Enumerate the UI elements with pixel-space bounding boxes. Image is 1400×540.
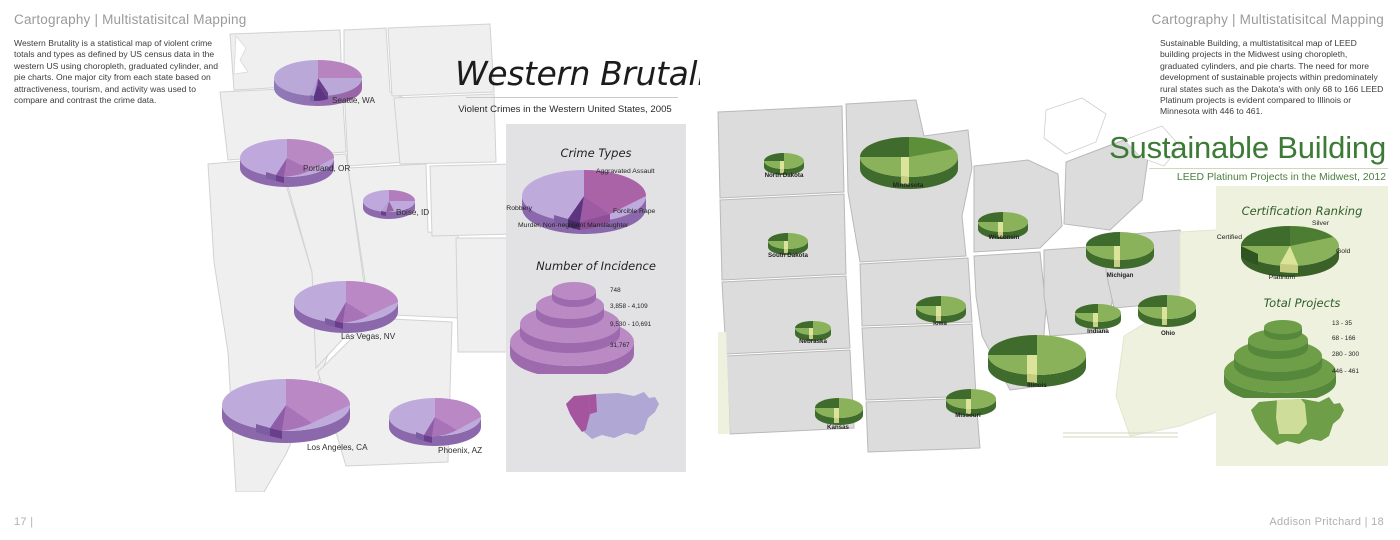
pie-label-murder: Murder, Non-negligent Manslaughter: [518, 222, 626, 230]
state-label-iowa: Iowa: [912, 320, 968, 327]
certification-ranking-title: Certification Ranking: [1216, 204, 1388, 218]
city-label-los-angeles: Los Angeles, CA: [307, 443, 368, 452]
page-subtitle-sustainable: LEED Platinum Projects in the Midwest, 2…: [1082, 172, 1386, 183]
state-label-south-dakota: South Dakota: [756, 252, 820, 259]
city-label-phoenix: Phoenix, AZ: [438, 446, 482, 455]
total-projects-title: Total Projects: [1216, 296, 1388, 310]
pie-las-vegas: [290, 278, 402, 334]
page-title-sustainable: Sustainable Building: [1082, 130, 1386, 166]
city-label-boise: Boise, ID: [396, 208, 429, 217]
total-projects-value-1: 13 - 35: [1332, 320, 1352, 327]
pie-michigan: [1083, 228, 1157, 270]
pie-ohio: [1135, 292, 1199, 328]
state-label-michigan: Michigan: [1088, 272, 1152, 279]
state-label-minnesota: Minnesota: [876, 182, 940, 189]
state-label-north-dakota: North Dakota: [752, 172, 816, 179]
title-rule-left: [466, 97, 678, 98]
pie-label-platinum: Platinum: [1246, 274, 1318, 282]
state-label-wisconsin: Wisconsin: [972, 234, 1036, 241]
pie-minnesota: [857, 133, 961, 189]
page-title-western: Western Brutality: [455, 54, 687, 93]
city-label-portland: Portland, OR: [303, 164, 350, 173]
city-label-seattle: Seattle, WA: [332, 96, 375, 105]
state-label-kansas: Kansas: [810, 424, 866, 431]
pie-label-aggravated-assault: Aggravated Assault: [596, 168, 656, 176]
pie-label-forcible-rape: Forcible Rape: [613, 208, 655, 216]
incidence-value-4: 31,767: [610, 342, 630, 349]
pie-illinois: [985, 330, 1089, 388]
footer-right: Addison Pritchard | 18: [1269, 516, 1384, 528]
pie-label-silver: Silver: [1312, 220, 1329, 228]
certification-pie-chart: [1238, 222, 1342, 278]
total-projects-value-4: 446 - 461: [1332, 368, 1359, 375]
us-locator-map-midwest: [1243, 392, 1353, 452]
title-rule-right: [1149, 168, 1388, 169]
incidence-value-3: 9,530 - 10,691: [610, 321, 651, 328]
incidence-title: Number of Incidence: [506, 259, 686, 273]
pie-kansas: [812, 395, 866, 425]
incidence-value-2: 3,858 - 4,109: [610, 303, 648, 310]
incidence-value-1: 748: [610, 287, 621, 294]
page-subtitle-western: Violent Crimes in the Western United Sta…: [440, 104, 690, 115]
map-source-note: [1063, 432, 1178, 441]
page-left: Cartography | Multistatisitcal Mapping W…: [0, 0, 700, 540]
pie-los-angeles: [218, 375, 354, 445]
total-projects-cylinder-legend: [1222, 312, 1340, 398]
pie-label-gold: Gold: [1336, 248, 1350, 256]
pie-phoenix: [385, 394, 485, 448]
total-projects-value-3: 280 - 300: [1332, 351, 1359, 358]
city-label-las-vegas: Las Vegas, NV: [341, 332, 395, 341]
footer-left: 17 |: [14, 516, 33, 528]
state-label-missouri: Missouri: [940, 412, 996, 419]
header-right: Cartography | Multistatisitcal Mapping: [1152, 12, 1384, 27]
total-projects-value-2: 68 - 166: [1332, 335, 1355, 342]
pie-indiana: [1072, 300, 1124, 330]
state-label-ohio: Ohio: [1140, 330, 1196, 337]
state-label-nebraska: Nebraska: [781, 338, 845, 345]
pie-portland: [236, 136, 338, 188]
pie-label-robbery: Robbery: [486, 205, 532, 213]
us-locator-map-west: [556, 388, 668, 450]
crime-types-title: Crime Types: [506, 146, 686, 160]
state-label-illinois: Illinois: [1009, 382, 1065, 389]
pie-label-certified: Certified: [1206, 234, 1242, 242]
